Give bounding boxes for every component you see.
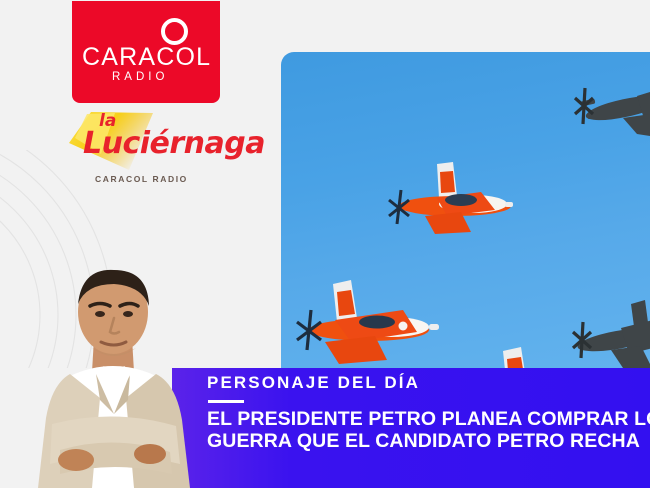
la-luciernaga-logo[interactable]: la Luciérnaga CARACOL RADIO bbox=[57, 110, 232, 192]
headline-line-1: EL PRESIDENTE PETRO PLANEA COMPRAR LO bbox=[207, 409, 650, 431]
caracol-radio-logo[interactable]: CARACOL RADIO bbox=[72, 1, 220, 103]
banner-headline: EL PRESIDENTE PETRO PLANEA COMPRAR LO GU… bbox=[207, 409, 650, 453]
personaje-del-dia-portrait bbox=[30, 268, 195, 488]
orange-trainer-plane-center-top bbox=[377, 162, 542, 244]
dark-gray-plane-top-right bbox=[567, 72, 650, 158]
luciernaga-subtitle: CARACOL RADIO bbox=[95, 174, 188, 184]
banner-kicker: PERSONAJE DEL DÍA bbox=[207, 374, 650, 393]
headline-line-2: GUERRA QUE EL CANDIDATO PETRO RECHA bbox=[207, 431, 650, 453]
dark-gray-plane-right bbox=[569, 300, 650, 377]
caracol-wordmark: CARACOL bbox=[82, 43, 211, 72]
circle-o-icon bbox=[161, 18, 188, 45]
luciernaga-wordmark: la Luciérnaga bbox=[83, 114, 243, 157]
news-photo-planes bbox=[281, 52, 650, 377]
banner-text-block: PERSONAJE DEL DÍA EL PRESIDENTE PETRO PL… bbox=[207, 374, 650, 452]
promo-card: CARACOL RADIO la Luciérnaga CARACOL RADI… bbox=[0, 0, 650, 488]
luciernaga-line2: Luciérnaga bbox=[83, 130, 243, 158]
banner-divider bbox=[208, 400, 244, 403]
orange-trainer-plane-left bbox=[291, 280, 461, 370]
caracol-subtitle: RADIO bbox=[112, 71, 168, 83]
